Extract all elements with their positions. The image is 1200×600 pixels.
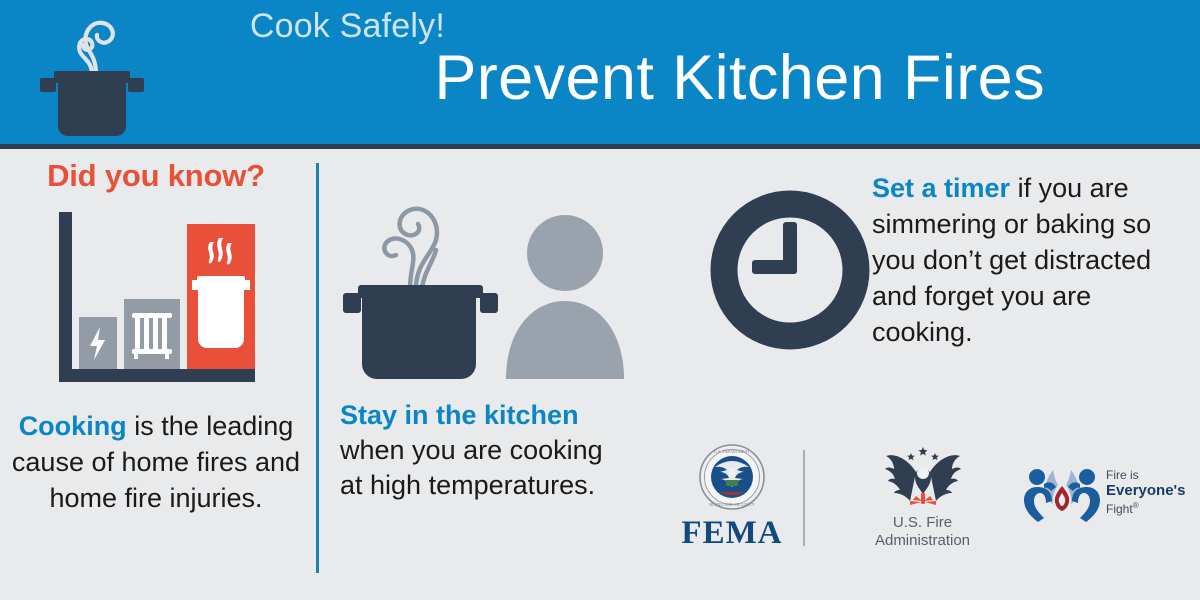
person-silhouette-icon (506, 215, 624, 379)
usfa-line-2: Administration (835, 532, 1010, 550)
middle-caption-highlight: Stay in the kitchen (340, 400, 579, 430)
home-fire-causes-bar-chart (41, 212, 271, 392)
logo-row: U.S. DEPARTMENT HOMELAND SECURITY FEMA (650, 440, 1195, 560)
right-caption-highlight: Set a timer (872, 173, 1010, 203)
did-you-know-heading: Did you know? (0, 158, 312, 194)
middle-panel: Stay in the kitchen when you are cooking… (330, 160, 630, 580)
fire-is-everyones-fight-wordmark: Fire is Everyone's Fight® (1106, 468, 1196, 516)
left-caption-highlight: Cooking (19, 411, 127, 441)
bar-heating (124, 299, 180, 369)
column-divider (316, 163, 319, 573)
feef-line-1: Fire is (1106, 468, 1196, 482)
svg-text:U.S. DEPARTMENT: U.S. DEPARTMENT (714, 449, 750, 454)
middle-caption-rest: when you are cooking at high temperature… (340, 435, 603, 500)
feef-line-2: Everyone's (1106, 482, 1196, 499)
dhs-seal-icon: U.S. DEPARTMENT HOMELAND SECURITY (699, 444, 765, 510)
usfa-eagle-icon (880, 444, 966, 510)
header-banner: Cook Safely! Prevent Kitchen Fires (0, 0, 1200, 144)
middle-panel-artwork (330, 160, 630, 390)
right-panel: Set a timer if you are simmering or baki… (650, 170, 1195, 430)
bar-electrical (79, 317, 117, 369)
middle-panel-caption: Stay in the kitchen when you are cooking… (330, 398, 630, 503)
bar-cooking (187, 224, 255, 369)
steaming-pot-icon (343, 285, 498, 379)
usfa-logo: U.S. Fire Administration (835, 444, 1010, 556)
fema-wordmark: FEMA (672, 516, 792, 550)
header-bottom-rule (0, 144, 1200, 149)
chart-x-axis (59, 369, 255, 382)
logo-separator (803, 450, 805, 546)
usfa-wordmark: U.S. Fire Administration (835, 514, 1010, 550)
svg-text:HOMELAND SECURITY: HOMELAND SECURITY (709, 502, 754, 507)
steam-swirl-icon (384, 209, 437, 288)
fire-is-everyones-fight-logo: Fire is Everyone's Fight® (1020, 454, 1195, 538)
fire-is-everyones-fight-icon (1020, 460, 1104, 522)
header-text-block: Cook Safely! Prevent Kitchen Fires (0, 4, 1045, 144)
feef-line-3: Fight® (1106, 499, 1196, 516)
infographic-poster: Cook Safely! Prevent Kitchen Fires Did y… (0, 0, 1200, 600)
fema-logo: U.S. DEPARTMENT HOMELAND SECURITY FEMA (672, 444, 792, 556)
left-panel: Did you know? (0, 152, 312, 592)
feef-trademark: ® (1133, 501, 1139, 510)
clock-icon (710, 190, 870, 350)
right-panel-caption: Set a timer if you are simmering or baki… (872, 170, 1192, 350)
usfa-line-1: U.S. Fire (835, 514, 1010, 532)
chart-y-axis (59, 212, 72, 382)
page-title: Prevent Kitchen Fires (0, 42, 1045, 114)
left-panel-caption: Cooking is the leading cause of home fir… (0, 408, 312, 516)
